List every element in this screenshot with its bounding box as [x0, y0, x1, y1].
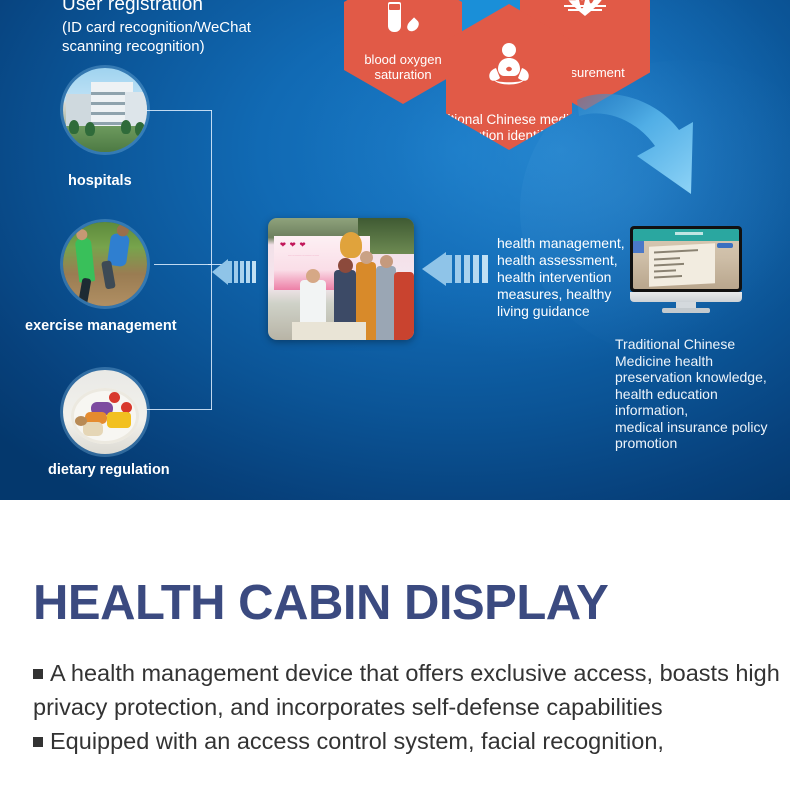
tcm-knowledge-line2: Medicine health	[615, 353, 785, 370]
tcm-knowledge-line3: preservation knowledge,	[615, 369, 785, 386]
health-services-line4: measures, healthy	[497, 286, 637, 303]
monitor-stand	[630, 292, 742, 302]
tcm-knowledge-line6: medical insurance policy	[615, 419, 785, 436]
left-pointing-striped-arrow-1	[210, 253, 262, 291]
heart-pulse-icon	[520, 0, 650, 18]
curved-down-right-arrow	[575, 82, 790, 217]
health-services-line3: health intervention	[497, 269, 637, 286]
monitor-base	[662, 308, 710, 313]
circle-image-dietary[interactable]	[63, 370, 147, 454]
healthy-food-plate-photo	[63, 370, 147, 454]
bullet-item-2: Equipped with an access control system, …	[33, 724, 781, 758]
tcm-knowledge-text: Traditional Chinese Medicine health pres…	[615, 336, 785, 452]
tcm-knowledge-line7: promotion	[615, 435, 785, 452]
user-registration-subtitle-line1: (ID card recognition/WeChat	[62, 18, 322, 37]
user-registration-subtitle-line2: scanning recognition)	[62, 37, 322, 56]
user-registration-subtitle: (ID card recognition/WeChat scanning rec…	[62, 18, 322, 56]
circle-image-hospitals[interactable]	[63, 68, 147, 152]
health-services-line1: health management,	[497, 235, 637, 252]
health-services-line5: living guidance	[497, 303, 637, 320]
people-stretching-photo	[63, 222, 147, 306]
page-title: HEALTH CABIN DISPLAY	[33, 575, 608, 631]
bottom-section: HEALTH CABIN DISPLAY A health management…	[0, 500, 790, 802]
hexagon-blood-oxygen-label: blood oxygen saturation	[358, 52, 447, 104]
heart-pulse-svg	[562, 0, 608, 18]
blood-oxygen-line2: saturation	[364, 67, 441, 82]
slide-page: User registration (ID card recognition/W…	[0, 0, 790, 802]
tcm-knowledge-line1: Traditional Chinese	[615, 336, 785, 353]
user-registration-text: User registration (ID card recognition/W…	[62, 0, 322, 56]
bullet-square-icon	[33, 669, 43, 679]
user-registration-title: User registration	[62, 0, 322, 16]
tcm-knowledge-line4: health education	[615, 386, 785, 403]
blood-oxygen-line1: blood oxygen	[364, 52, 441, 67]
bracket-connector	[146, 110, 212, 410]
health-services-text: health management, health assessment, he…	[497, 235, 637, 320]
label-hospitals: hospitals	[68, 173, 132, 189]
bullet-square-icon	[33, 737, 43, 747]
health-services-line2: health assessment,	[497, 252, 637, 269]
bullet-list: A health management device that offers e…	[33, 656, 781, 758]
bullet-item-1: A health management device that offers e…	[33, 656, 781, 724]
blood-tube-icon: SaO2	[344, 2, 462, 32]
community-health-event-photo[interactable]: ❤ ❤ ❤ ............................	[268, 218, 414, 340]
diagram-panel: User registration (ID card recognition/W…	[0, 0, 790, 500]
hospital-building-photo	[63, 68, 147, 152]
desktop-monitor[interactable]	[630, 226, 742, 312]
meditation-person-svg	[486, 42, 532, 88]
bullet-item-2-text: Equipped with an access control system, …	[50, 728, 664, 754]
hexagon-blood-oxygen[interactable]: SaO2 blood oxygen saturation	[344, 0, 462, 104]
label-dietary-regulation: dietary regulation	[48, 462, 170, 478]
circle-image-exercise[interactable]	[63, 222, 147, 306]
tcm-knowledge-line5: information,	[615, 402, 785, 419]
bullet-item-1-text: A health management device that offers e…	[33, 660, 780, 720]
meditation-person-icon	[446, 42, 572, 88]
left-pointing-striped-arrow-2	[420, 250, 498, 288]
monitor-screen	[630, 226, 742, 292]
